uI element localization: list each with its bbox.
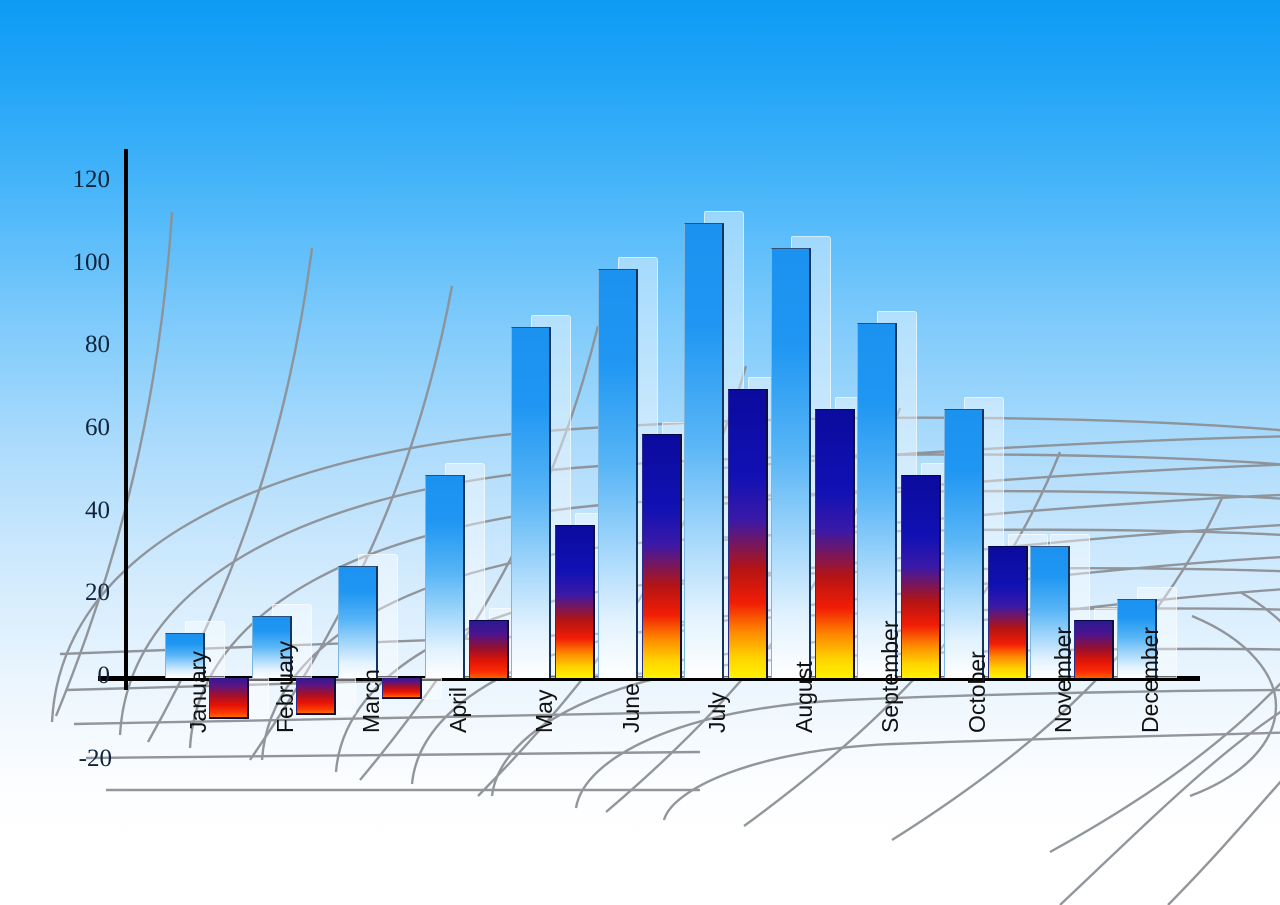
bar-april-series2[interactable]	[469, 620, 509, 678]
x-axis-label-june: June	[618, 683, 645, 733]
x-axis-label-october: October	[964, 651, 991, 733]
y-axis-label--20: -20	[54, 745, 112, 773]
bar-july-series2[interactable]	[728, 389, 768, 678]
x-axis-label-august: August	[791, 661, 818, 733]
y-axis-label-120: 120	[52, 166, 110, 194]
y-axis-label-40: 40	[52, 497, 110, 525]
bar-june-series1[interactable]	[598, 269, 638, 678]
x-axis-label-january: January	[185, 651, 212, 733]
y-axis-label-100: 100	[52, 249, 110, 277]
y-axis-label-20: 20	[52, 579, 110, 607]
y-axis-line	[124, 149, 128, 690]
y-axis-label-0: 0	[52, 662, 110, 690]
bar-october-series2[interactable]	[988, 546, 1028, 678]
bar-march-series1[interactable]	[338, 566, 378, 678]
bar-august-series1[interactable]	[771, 248, 811, 678]
x-axis-label-february: February	[272, 641, 299, 733]
bar-july-series1[interactable]	[684, 223, 724, 678]
bar-june-series2[interactable]	[642, 434, 682, 678]
x-axis-label-april: April	[445, 687, 472, 733]
y-tick-0	[115, 676, 137, 680]
bar-march-series2[interactable]	[382, 678, 422, 699]
bar-october-series1[interactable]	[944, 409, 984, 678]
y-axis-label-60: 60	[52, 414, 110, 442]
x-axis-label-july: July	[704, 692, 731, 733]
x-axis-label-may: May	[531, 690, 558, 733]
bar-may-series2[interactable]	[555, 525, 595, 678]
x-axis-label-march: March	[358, 669, 385, 733]
y-axis-label-80: 80	[52, 331, 110, 359]
bar-may-series1[interactable]	[511, 327, 551, 678]
bar-february-series2[interactable]	[296, 678, 336, 715]
x-axis-label-november: November	[1050, 627, 1077, 733]
bar-september-series2[interactable]	[901, 475, 941, 678]
bar-august-series2[interactable]	[815, 409, 855, 678]
bar-april-series1[interactable]	[425, 475, 465, 678]
plot-area: -20020406080100120JanuaryFebruaryMarchAp…	[0, 0, 1280, 905]
bar-january-series2[interactable]	[209, 678, 249, 719]
chart-canvas: -20020406080100120JanuaryFebruaryMarchAp…	[0, 0, 1280, 905]
bar-november-series2[interactable]	[1074, 620, 1114, 678]
x-axis-label-september: September	[877, 620, 904, 733]
x-axis-label-december: December	[1137, 627, 1164, 733]
